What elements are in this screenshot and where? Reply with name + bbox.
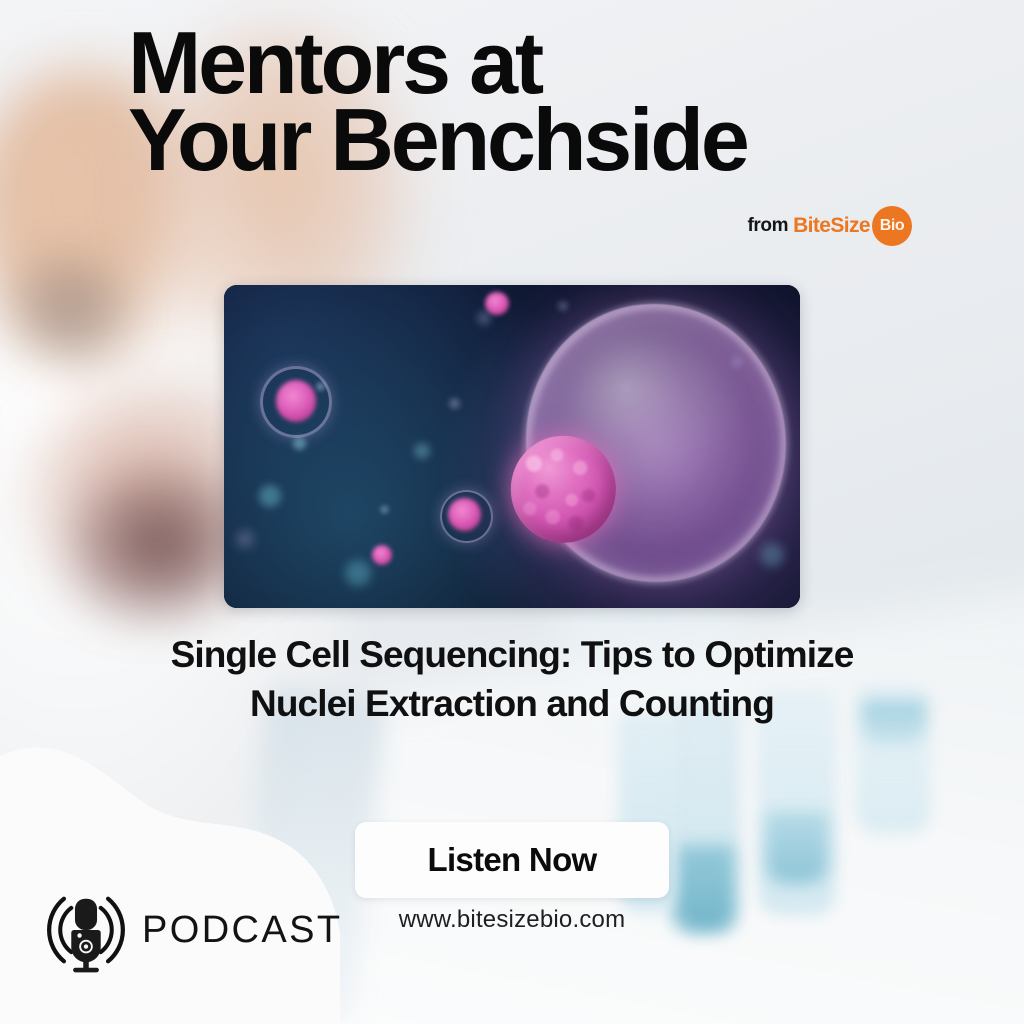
satellite-cell-top	[483, 290, 512, 319]
brand-attribution: from BiteSize Bio	[747, 206, 912, 246]
microphone-icon	[40, 884, 132, 976]
satellite-nucleus	[276, 380, 317, 422]
show-title-line-2: Your Benchside	[128, 101, 918, 178]
satellite-cell-lower-middle	[440, 490, 493, 543]
satellite-nucleus	[372, 545, 392, 565]
cell-nucleus	[511, 436, 616, 543]
satellite-cell-upper-left	[260, 366, 333, 438]
from-label: from	[747, 215, 788, 237]
podcast-label: PODCAST	[142, 911, 343, 949]
satellite-cell-bottom-left	[371, 543, 395, 567]
nucleus-texture	[511, 436, 616, 543]
podcast-promo-poster: Mentors at Your Benchside from BiteSize …	[0, 0, 1024, 1024]
podcast-badge: PODCAST	[40, 884, 343, 976]
episode-title: Single Cell Sequencing: Tips to Optimize…	[150, 630, 874, 728]
satellite-nucleus	[485, 292, 509, 316]
bio-badge-label: Bio	[880, 217, 905, 235]
show-title-lockup: Mentors at Your Benchside from BiteSize …	[128, 24, 918, 179]
listen-now-button[interactable]: Listen Now	[355, 822, 669, 898]
listen-now-label: Listen Now	[427, 841, 596, 879]
episode-artwork	[224, 285, 800, 608]
test-tube-2-liquid	[766, 812, 828, 884]
bio-badge-circle: Bio	[872, 206, 912, 246]
company-name: BiteSize	[793, 214, 870, 238]
